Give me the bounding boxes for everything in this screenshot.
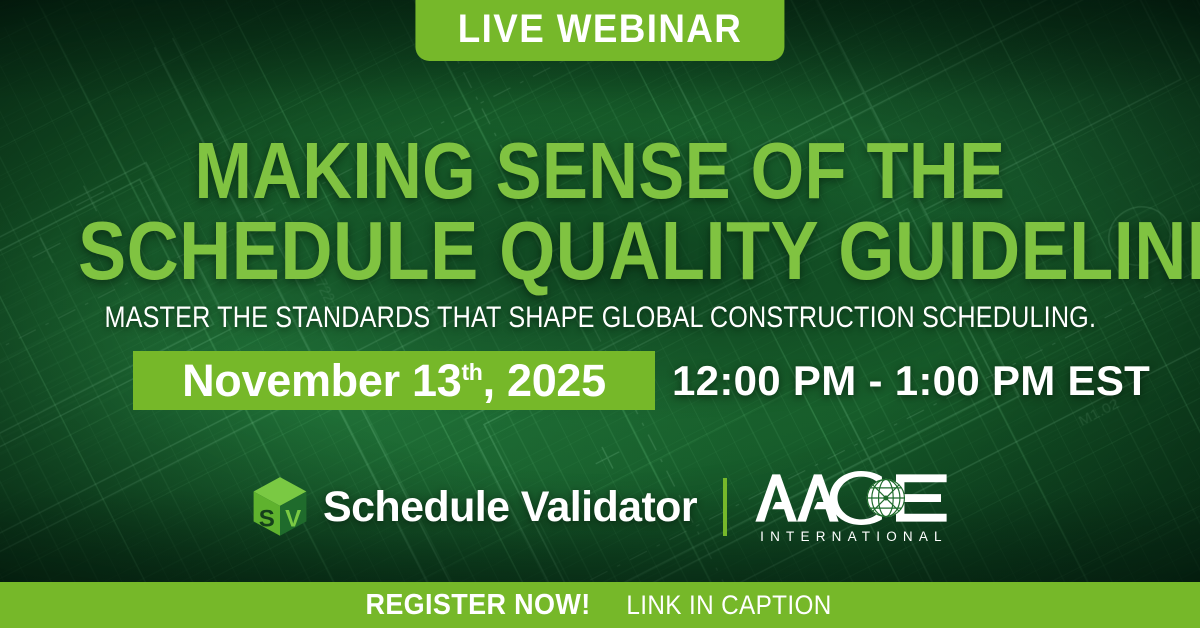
register-cta-bar[interactable]: REGISTER NOW! LINK IN CAPTION xyxy=(0,582,1200,628)
page-title-line-1: MAKING SENSE OF THE xyxy=(84,131,1116,211)
event-date-ordinal: th xyxy=(461,359,482,385)
link-in-caption-label: LINK IN CAPTION xyxy=(626,592,831,619)
poster-content: MAKING SENSE OF THE SCHEDULE QUALITY GUI… xyxy=(0,0,1200,628)
schedule-validator-wordmark: Schedule Validator xyxy=(323,486,697,529)
event-date-block: November 13th, 2025 xyxy=(133,351,655,410)
aace-wordmark-icon xyxy=(753,471,949,525)
page-subtitle-text: MASTER THE STANDARDS THAT SHAPE GLOBAL C… xyxy=(104,303,1096,333)
register-now-label: REGISTER NOW! xyxy=(365,591,590,620)
event-time-text: 12:00 PM - 1:00 PM EST xyxy=(672,358,1150,403)
event-date-text: November 13th, 2025 xyxy=(182,358,606,403)
globe-icon xyxy=(867,478,905,516)
cube-right-letter: V xyxy=(285,506,301,533)
event-date-year: , 2025 xyxy=(483,355,606,406)
page-subtitle: MASTER THE STANDARDS THAT SHAPE GLOBAL C… xyxy=(0,303,1200,333)
webinar-promo-poster: 1722.4 413 88 M1.02 3 LIVE WEBINAR MAKIN… xyxy=(0,0,1200,628)
live-webinar-badge: LIVE WEBINAR xyxy=(415,0,784,61)
page-title-line-2: SCHEDULE QUALITY GUIDELINES xyxy=(78,211,1122,291)
page-title: MAKING SENSE OF THE SCHEDULE QUALITY GUI… xyxy=(0,131,1200,291)
aace-logo: INTERNATIONAL xyxy=(753,471,949,544)
live-webinar-badge-label: LIVE WEBINAR xyxy=(458,9,742,49)
schedule-validator-logo: S V Schedule Validator xyxy=(251,476,697,538)
aace-tagline: INTERNATIONAL xyxy=(754,530,948,544)
event-date-monthday: November 13 xyxy=(182,355,461,406)
logo-lockup: S V Schedule Validator xyxy=(0,466,1200,548)
cube-left-letter: S xyxy=(259,506,275,533)
logo-divider xyxy=(723,478,727,536)
cube-icon: S V xyxy=(251,476,309,538)
